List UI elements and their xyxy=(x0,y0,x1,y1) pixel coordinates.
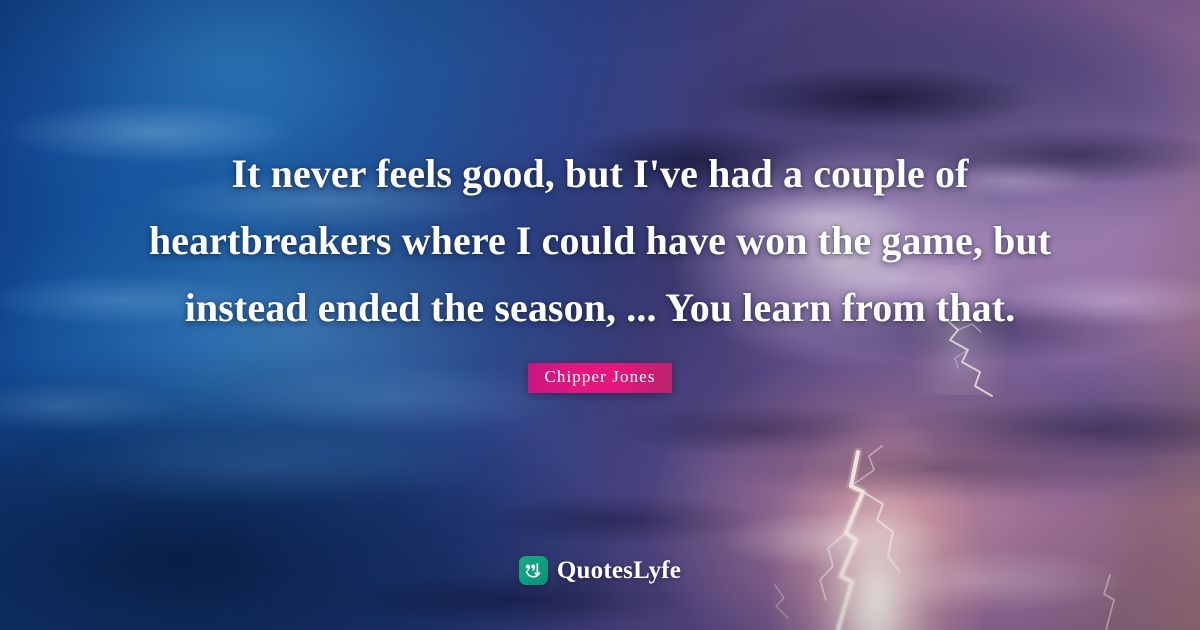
quote-text: It never feels good, but I've had a coup… xyxy=(140,140,1060,341)
brand-logo[interactable]: QuotesLyfe xyxy=(0,556,1200,585)
quote-poster: It never feels good, but I've had a coup… xyxy=(0,0,1200,630)
poster-content: It never feels good, but I've had a coup… xyxy=(0,0,1200,630)
author-name: Chipper Jones xyxy=(544,367,655,386)
brand-name: QuotesLyfe xyxy=(557,557,681,584)
author-badge[interactable]: Chipper Jones xyxy=(528,363,671,393)
quote-mark-icon xyxy=(519,556,548,585)
